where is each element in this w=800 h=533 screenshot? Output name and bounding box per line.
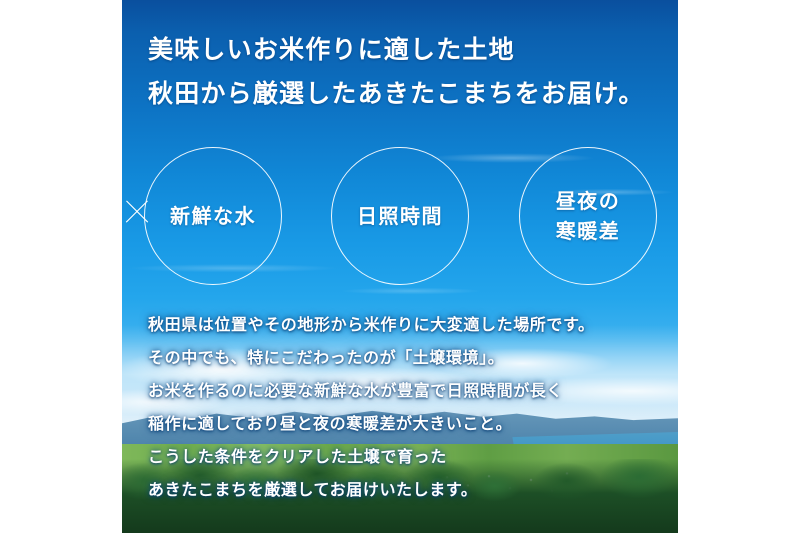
body-line: お米を作るのに必要な新鮮な水が豊富で日照時間が長く — [148, 374, 658, 407]
headline: 美味しいお米作りに適した土地 秋田から厳選したあきたこまちをお届け。 — [148, 28, 658, 116]
feature-circle-label: 新鮮な水 — [170, 201, 256, 231]
body-line: 稲作に適しており昼と夜の寒暖差が大きいこと。 — [148, 407, 658, 440]
rice-promo-banner: 美味しいお米作りに適した土地 秋田から厳選したあきたこまちをお届け。 新鮮な水 … — [122, 0, 678, 533]
headline-line-1: 美味しいお米作りに適した土地 — [148, 28, 658, 72]
feature-circle-label: 昼夜の 寒暖差 — [556, 186, 621, 246]
headline-line-2: 秋田から厳選したあきたこまちをお届け。 — [148, 72, 658, 116]
screenshot-root: 美味しいお米作りに適した土地 秋田から厳選したあきたこまちをお届け。 新鮮な水 … — [0, 0, 800, 533]
feature-circle-temperature-range: 昼夜の 寒暖差 — [519, 147, 657, 285]
body-line: その中でも、特にこだわったのが「土壌環境」。 — [148, 341, 658, 374]
body-line: こうした条件をクリアした土壌で育った — [148, 440, 658, 473]
feature-circle-sunshine-hours: 日照時間 — [331, 147, 469, 285]
body-line: あきたこまちを厳選してお届けいたします。 — [148, 473, 658, 506]
feature-circle-row: 新鮮な水 日照時間 昼夜の 寒暖差 — [122, 147, 678, 287]
feature-circle-fresh-water: 新鮮な水 — [144, 147, 282, 285]
feature-circle-label: 日照時間 — [357, 201, 443, 231]
body-line: 秋田県は位置やその地形から米作りに大変適した場所です。 — [148, 308, 658, 341]
body-copy: 秋田県は位置やその地形から米作りに大変適した場所です。 その中でも、特にこだわっ… — [148, 308, 658, 506]
multiply-icon — [122, 197, 152, 227]
